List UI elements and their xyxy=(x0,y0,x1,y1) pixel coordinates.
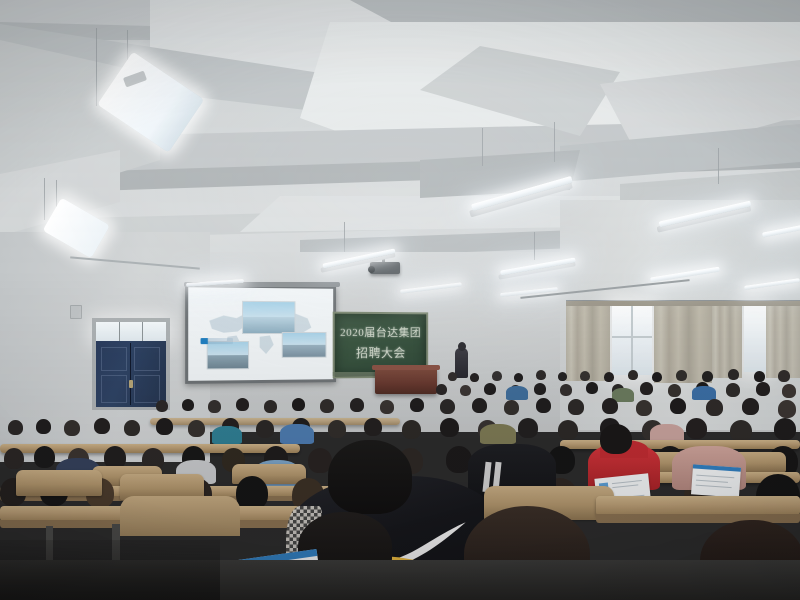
blackboard-line-2: 招聘大会 xyxy=(335,344,427,361)
resume-paper xyxy=(691,464,741,497)
slide-photo-city xyxy=(282,332,327,358)
curtain-header xyxy=(566,301,800,306)
light-wire xyxy=(482,128,483,166)
transom-bar xyxy=(119,322,120,341)
slide-logo xyxy=(200,338,233,345)
projector-lens-icon xyxy=(368,266,375,273)
light-wire xyxy=(96,28,97,106)
floor-shadow xyxy=(0,540,220,600)
wall-speaker xyxy=(70,305,82,319)
lecture-desk-foreground xyxy=(596,496,800,516)
light-wire xyxy=(534,232,535,260)
blackboard-line-1: 2020届台达集团 xyxy=(335,324,427,340)
presenter-head xyxy=(458,342,466,351)
seat-back-foreground xyxy=(120,496,240,536)
transom-window xyxy=(96,322,166,341)
transom-bar xyxy=(142,322,143,341)
lecture-hall-photo: 2020届台达集团 招聘大会 xyxy=(0,0,800,600)
seat-back xyxy=(16,470,102,496)
light-wire xyxy=(554,122,555,162)
light-wire xyxy=(44,178,45,220)
student-head xyxy=(600,424,632,454)
nike-hoodie-student-head xyxy=(328,440,412,514)
light-wire xyxy=(718,148,719,184)
slide-photo-factory xyxy=(242,301,296,334)
light-wire xyxy=(344,222,345,252)
